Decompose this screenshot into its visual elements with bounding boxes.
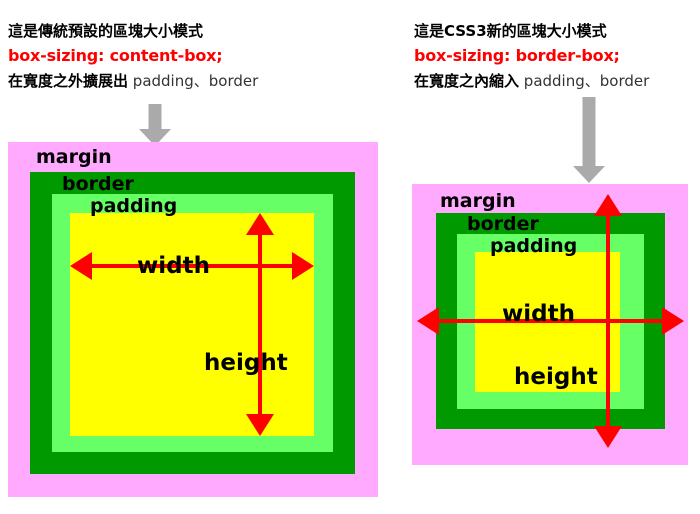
- height-arrow-head-up-left: [246, 213, 274, 235]
- caption-right-line-3-en: padding、border: [524, 72, 649, 90]
- caption-left-line-3-zh: 在寬度之外擴展出: [8, 72, 128, 90]
- width-arrow-head-left-left: [70, 252, 92, 280]
- height-label-left: height: [204, 352, 288, 375]
- height-measure-line-left: [258, 231, 262, 418]
- gray-arrow-shaft: [583, 97, 596, 166]
- box-sizing-declaration-right: box-sizing: border-box;: [414, 46, 620, 65]
- width-label-left: width: [137, 255, 210, 278]
- gray-down-arrow-icon-right: [569, 97, 609, 183]
- caption-left-line-3-en: padding、border: [133, 72, 258, 90]
- caption-right-line-1-text: 這是CSS3新的區塊大小模式: [414, 22, 607, 40]
- caption-border-box: 這是CSS3新的區塊大小模式 box-sizing: border-box; 在…: [414, 18, 649, 93]
- border-label-left: border: [62, 175, 134, 194]
- height-arrow-head-up-right: [594, 194, 622, 216]
- caption-left-line-3: 在寬度之外擴展出 padding、border: [8, 68, 258, 93]
- height-arrow-head-down-left: [246, 414, 274, 436]
- width-arrow-head-right-right: [662, 307, 684, 335]
- padding-label-left: padding: [90, 197, 177, 216]
- caption-left-line-2: box-sizing: content-box;: [8, 43, 258, 68]
- content-box-left: [70, 213, 314, 436]
- height-measure-arrow-left: [246, 213, 274, 436]
- caption-right-line-1: 這是CSS3新的區塊大小模式: [414, 18, 649, 43]
- caption-right-line-3: 在寬度之內縮入 padding、border: [414, 68, 649, 93]
- height-measure-line-right: [606, 212, 610, 430]
- caption-left-line-1-text: 這是傳統預設的區塊大小模式: [8, 22, 203, 40]
- padding-label-right: padding: [490, 237, 577, 256]
- height-arrow-head-down-right: [594, 426, 622, 448]
- gray-down-arrow-icon-left: [135, 104, 175, 146]
- height-measure-arrow-right: [594, 194, 622, 448]
- gray-arrow-head: [573, 166, 605, 183]
- margin-label-left: margin: [36, 148, 112, 167]
- border-label-right: border: [467, 215, 539, 234]
- width-label-right: width: [502, 303, 575, 326]
- caption-left-line-1: 這是傳統預設的區塊大小模式: [8, 18, 258, 43]
- margin-label-right: margin: [440, 192, 516, 211]
- caption-right-line-2: box-sizing: border-box;: [414, 43, 649, 68]
- height-label-right: height: [514, 366, 598, 389]
- caption-content-box: 這是傳統預設的區塊大小模式 box-sizing: content-box; 在…: [8, 18, 258, 93]
- width-arrow-head-left-right: [417, 307, 439, 335]
- box-sizing-declaration-left: box-sizing: content-box;: [8, 46, 222, 65]
- width-arrow-head-right-left: [292, 252, 314, 280]
- caption-right-line-3-zh: 在寬度之內縮入: [414, 72, 519, 90]
- gray-arrow-shaft: [149, 104, 162, 129]
